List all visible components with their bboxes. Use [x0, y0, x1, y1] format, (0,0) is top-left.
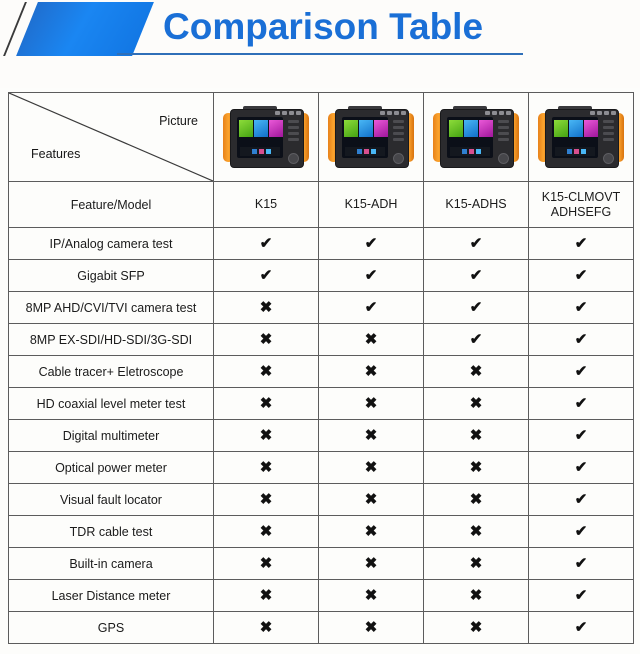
- supported-cell-r11-c4: ✔: [529, 548, 634, 580]
- supported-cell-r8-c4: ✔: [529, 452, 634, 484]
- corner-features-label: Features: [31, 147, 80, 161]
- unsupported-cell-r11-c3: ✖: [424, 548, 529, 580]
- cross-icon: ✖: [260, 363, 273, 380]
- device-dial: [393, 153, 404, 164]
- cross-icon: ✖: [470, 363, 483, 380]
- table-row: TDR cable test✖✖✖✔: [9, 516, 634, 548]
- supported-cell-r3-c3: ✔: [424, 292, 529, 324]
- check-icon: ✔: [575, 331, 588, 348]
- supported-cell-r1-c3: ✔: [424, 228, 529, 260]
- unsupported-cell-r11-c1: ✖: [214, 548, 319, 580]
- supported-cell-r1-c1: ✔: [214, 228, 319, 260]
- unsupported-cell-r5-c3: ✖: [424, 356, 529, 388]
- unsupported-cell-r6-c2: ✖: [319, 388, 424, 420]
- cctv-tester-device-k15-adhs: [433, 109, 519, 166]
- model-row: Feature/ModelK15K15-ADHK15-ADHSK15-CLMOV…: [9, 182, 634, 228]
- unsupported-cell-r13-c2: ✖: [319, 612, 424, 644]
- model-header-1: K15: [214, 182, 319, 228]
- unsupported-cell-r9-c3: ✖: [424, 484, 529, 516]
- cross-icon: ✖: [260, 299, 273, 316]
- cross-icon: ✖: [260, 331, 273, 348]
- feature-label: Visual fault locator: [9, 484, 214, 516]
- device-dial: [603, 153, 614, 164]
- supported-cell-r4-c4: ✔: [529, 324, 634, 356]
- page-title: Comparison Table: [163, 4, 483, 50]
- unsupported-cell-r10-c3: ✖: [424, 516, 529, 548]
- cross-icon: ✖: [470, 427, 483, 444]
- unsupported-cell-r3-c1: ✖: [214, 292, 319, 324]
- feature-model-header: Feature/Model: [9, 182, 214, 228]
- screen-tile-blue: [359, 120, 373, 137]
- check-icon: ✔: [575, 491, 588, 508]
- supported-cell-r6-c4: ✔: [529, 388, 634, 420]
- screen-tile-blue: [464, 120, 478, 137]
- model-header-3: K15-ADHS: [424, 182, 529, 228]
- screen-tile-magenta: [269, 120, 283, 137]
- picture-row: PictureFeatures: [9, 93, 634, 182]
- cross-icon: ✖: [365, 331, 378, 348]
- supported-cell-r3-c4: ✔: [529, 292, 634, 324]
- table-row: IP/Analog camera test✔✔✔✔: [9, 228, 634, 260]
- table-row: Cable tracer+ Eletroscope✖✖✖✔: [9, 356, 634, 388]
- unsupported-cell-r7-c3: ✖: [424, 420, 529, 452]
- check-icon: ✔: [575, 267, 588, 284]
- model-name-line: K15: [214, 197, 318, 212]
- cross-icon: ✖: [365, 491, 378, 508]
- check-icon: ✔: [470, 235, 483, 252]
- check-icon: ✔: [575, 555, 588, 572]
- check-icon: ✔: [260, 235, 273, 252]
- model-name-line: K15-ADHS: [424, 197, 528, 212]
- unsupported-cell-r6-c1: ✖: [214, 388, 319, 420]
- table-row: 8MP AHD/CVI/TVI camera test✖✔✔✔: [9, 292, 634, 324]
- diagonal-divider-icon: [9, 93, 213, 181]
- screen-dock: [555, 147, 595, 156]
- table-row: GPS✖✖✖✔: [9, 612, 634, 644]
- check-icon: ✔: [470, 299, 483, 316]
- feature-label: Optical power meter: [9, 452, 214, 484]
- screen-dock: [345, 147, 385, 156]
- banner-underline-rule: [117, 53, 523, 55]
- model-header-2: K15-ADH: [319, 182, 424, 228]
- cross-icon: ✖: [260, 619, 273, 636]
- table-row: Visual fault locator✖✖✖✔: [9, 484, 634, 516]
- device-screen: [447, 117, 493, 158]
- unsupported-cell-r12-c3: ✖: [424, 580, 529, 612]
- model-name-line: K15-CLMOVT: [529, 190, 633, 205]
- cross-icon: ✖: [470, 459, 483, 476]
- device-keypad: [602, 118, 615, 158]
- unsupported-cell-r12-c2: ✖: [319, 580, 424, 612]
- device-dial: [288, 153, 299, 164]
- banner-parallelogram-logo: [16, 2, 154, 56]
- cross-icon: ✖: [365, 587, 378, 604]
- supported-cell-r5-c4: ✔: [529, 356, 634, 388]
- unsupported-cell-r9-c2: ✖: [319, 484, 424, 516]
- check-icon: ✔: [470, 331, 483, 348]
- unsupported-cell-r13-c1: ✖: [214, 612, 319, 644]
- cross-icon: ✖: [470, 395, 483, 412]
- supported-cell-r13-c4: ✔: [529, 612, 634, 644]
- unsupported-cell-r10-c2: ✖: [319, 516, 424, 548]
- cross-icon: ✖: [470, 619, 483, 636]
- cctv-tester-device-k15-clmovt-adhsefg: [538, 109, 624, 166]
- supported-cell-r2-c4: ✔: [529, 260, 634, 292]
- cross-icon: ✖: [470, 587, 483, 604]
- device-keypad: [392, 118, 405, 158]
- table-row: Laser Distance meter✖✖✖✔: [9, 580, 634, 612]
- screen-tile-magenta: [374, 120, 388, 137]
- supported-cell-r2-c1: ✔: [214, 260, 319, 292]
- table-row: Built-in camera✖✖✖✔: [9, 548, 634, 580]
- cross-icon: ✖: [365, 523, 378, 540]
- check-icon: ✔: [365, 235, 378, 252]
- supported-cell-r12-c4: ✔: [529, 580, 634, 612]
- check-icon: ✔: [575, 363, 588, 380]
- device-body: [545, 109, 619, 168]
- unsupported-cell-r7-c2: ✖: [319, 420, 424, 452]
- model-name-line: ADHSEFG: [529, 205, 633, 220]
- comparison-table-body: PictureFeaturesFeature/ModelK15K15-ADHK1…: [9, 93, 634, 644]
- cross-icon: ✖: [365, 619, 378, 636]
- product-picture-cell: [319, 93, 424, 182]
- cross-icon: ✖: [365, 363, 378, 380]
- table-row: HD coaxial level meter test✖✖✖✔: [9, 388, 634, 420]
- supported-cell-r2-c2: ✔: [319, 260, 424, 292]
- feature-label: Laser Distance meter: [9, 580, 214, 612]
- screen-tile-blue: [254, 120, 268, 137]
- device-dial: [498, 153, 509, 164]
- table-row: Gigabit SFP✔✔✔✔: [9, 260, 634, 292]
- check-icon: ✔: [575, 587, 588, 604]
- comparison-table: PictureFeaturesFeature/ModelK15K15-ADHK1…: [8, 92, 634, 644]
- table-row: 8MP EX-SDI/HD-SDI/3G-SDI✖✖✔✔: [9, 324, 634, 356]
- device-ports: [259, 111, 299, 115]
- device-body: [335, 109, 409, 168]
- cross-icon: ✖: [260, 459, 273, 476]
- feature-label: Digital multimeter: [9, 420, 214, 452]
- unsupported-cell-r5-c1: ✖: [214, 356, 319, 388]
- device-ports: [364, 111, 404, 115]
- check-icon: ✔: [365, 299, 378, 316]
- device-screen: [342, 117, 388, 158]
- device-body: [230, 109, 304, 168]
- cross-icon: ✖: [470, 491, 483, 508]
- check-icon: ✔: [575, 459, 588, 476]
- cross-icon: ✖: [260, 491, 273, 508]
- cross-icon: ✖: [365, 427, 378, 444]
- screen-tile-green: [344, 120, 358, 137]
- unsupported-cell-r5-c2: ✖: [319, 356, 424, 388]
- feature-label: GPS: [9, 612, 214, 644]
- unsupported-cell-r11-c2: ✖: [319, 548, 424, 580]
- device-keypad: [287, 118, 300, 158]
- screen-tile-green: [449, 120, 463, 137]
- cross-icon: ✖: [470, 555, 483, 572]
- device-keypad: [497, 118, 510, 158]
- screen-dock: [240, 147, 280, 156]
- cross-icon: ✖: [260, 427, 273, 444]
- cross-icon: ✖: [260, 587, 273, 604]
- supported-cell-r3-c2: ✔: [319, 292, 424, 324]
- cross-icon: ✖: [365, 395, 378, 412]
- device-screen: [237, 117, 283, 158]
- unsupported-cell-r8-c1: ✖: [214, 452, 319, 484]
- screen-tile-green: [554, 120, 568, 137]
- unsupported-cell-r7-c1: ✖: [214, 420, 319, 452]
- cross-icon: ✖: [365, 459, 378, 476]
- device-screen: [552, 117, 598, 158]
- device-ports: [574, 111, 614, 115]
- feature-label: Gigabit SFP: [9, 260, 214, 292]
- feature-label: Built-in camera: [9, 548, 214, 580]
- supported-cell-r1-c4: ✔: [529, 228, 634, 260]
- screen-tile-magenta: [584, 120, 598, 137]
- supported-cell-r1-c2: ✔: [319, 228, 424, 260]
- supported-cell-r9-c4: ✔: [529, 484, 634, 516]
- comparison-table-wrapper: PictureFeaturesFeature/ModelK15K15-ADHK1…: [8, 92, 633, 644]
- feature-label: 8MP AHD/CVI/TVI camera test: [9, 292, 214, 324]
- check-icon: ✔: [575, 395, 588, 412]
- check-icon: ✔: [575, 235, 588, 252]
- unsupported-cell-r4-c1: ✖: [214, 324, 319, 356]
- screen-tile-blue: [569, 120, 583, 137]
- supported-cell-r2-c3: ✔: [424, 260, 529, 292]
- cctv-tester-device-k15: [223, 109, 309, 166]
- feature-label: TDR cable test: [9, 516, 214, 548]
- feature-label: IP/Analog camera test: [9, 228, 214, 260]
- page-banner: Comparison Table: [0, 0, 640, 88]
- supported-cell-r10-c4: ✔: [529, 516, 634, 548]
- table-row: Digital multimeter✖✖✖✔: [9, 420, 634, 452]
- supported-cell-r7-c4: ✔: [529, 420, 634, 452]
- check-icon: ✔: [470, 267, 483, 284]
- supported-cell-r4-c3: ✔: [424, 324, 529, 356]
- unsupported-cell-r4-c2: ✖: [319, 324, 424, 356]
- feature-label: HD coaxial level meter test: [9, 388, 214, 420]
- check-icon: ✔: [260, 267, 273, 284]
- cross-icon: ✖: [470, 523, 483, 540]
- feature-label: Cable tracer+ Eletroscope: [9, 356, 214, 388]
- screen-tile-magenta: [479, 120, 493, 137]
- unsupported-cell-r13-c3: ✖: [424, 612, 529, 644]
- device-ports: [469, 111, 509, 115]
- table-row: Optical power meter✖✖✖✔: [9, 452, 634, 484]
- model-header-4: K15-CLMOVTADHSEFG: [529, 182, 634, 228]
- screen-dock: [450, 147, 490, 156]
- cctv-tester-device-k15-adh: [328, 109, 414, 166]
- unsupported-cell-r8-c2: ✖: [319, 452, 424, 484]
- check-icon: ✔: [575, 619, 588, 636]
- feature-label: 8MP EX-SDI/HD-SDI/3G-SDI: [9, 324, 214, 356]
- screen-tile-green: [239, 120, 253, 137]
- unsupported-cell-r10-c1: ✖: [214, 516, 319, 548]
- product-picture-cell: [424, 93, 529, 182]
- corner-picture-label: Picture: [159, 114, 198, 128]
- corner-header-cell: PictureFeatures: [9, 93, 214, 182]
- unsupported-cell-r6-c3: ✖: [424, 388, 529, 420]
- model-name-line: K15-ADH: [319, 197, 423, 212]
- check-icon: ✔: [575, 427, 588, 444]
- device-body: [440, 109, 514, 168]
- product-picture-cell: [529, 93, 634, 182]
- cross-icon: ✖: [365, 555, 378, 572]
- check-icon: ✔: [365, 267, 378, 284]
- cross-icon: ✖: [260, 523, 273, 540]
- product-picture-cell: [214, 93, 319, 182]
- check-icon: ✔: [575, 299, 588, 316]
- cross-icon: ✖: [260, 395, 273, 412]
- cross-icon: ✖: [260, 555, 273, 572]
- unsupported-cell-r8-c3: ✖: [424, 452, 529, 484]
- unsupported-cell-r9-c1: ✖: [214, 484, 319, 516]
- check-icon: ✔: [575, 523, 588, 540]
- unsupported-cell-r12-c1: ✖: [214, 580, 319, 612]
